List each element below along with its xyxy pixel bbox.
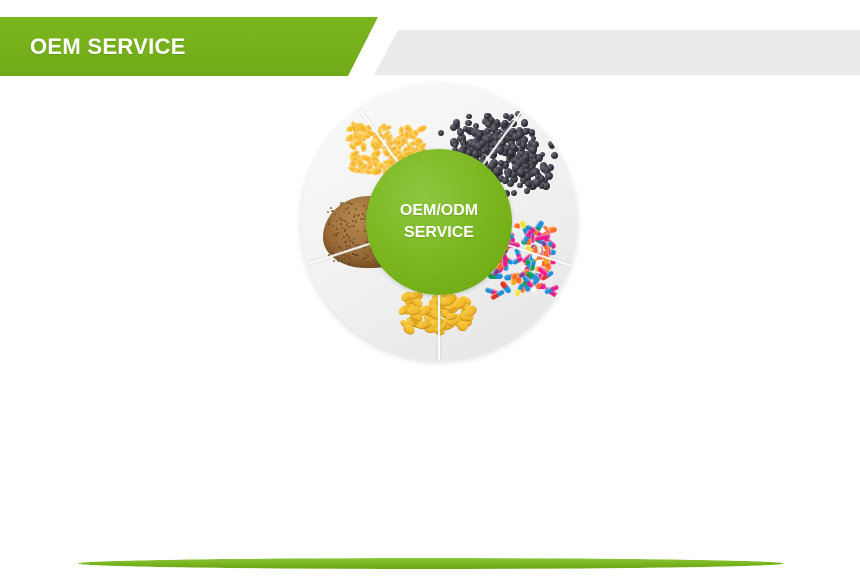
header-banner: OEM SERVICE [0, 17, 860, 79]
oem-service-page: OEM SERVICE OEM/ODM SERVICE [0, 0, 860, 587]
footer-accent-bar [78, 558, 784, 569]
hub-line-1: OEM/ODM [400, 200, 478, 222]
page-title: OEM SERVICE [30, 17, 186, 76]
banner-gray-stripe [374, 30, 860, 75]
product-row: CoQ-10 200 MG Dietary Supplement Coenzym… [0, 385, 860, 545]
oem-capability-wheel: OEM/ODM SERVICE [301, 84, 577, 360]
wheel-hub: OEM/ODM SERVICE [366, 149, 512, 295]
wheel-disc: OEM/ODM SERVICE [301, 84, 577, 360]
hub-line-2: SERVICE [404, 222, 474, 244]
